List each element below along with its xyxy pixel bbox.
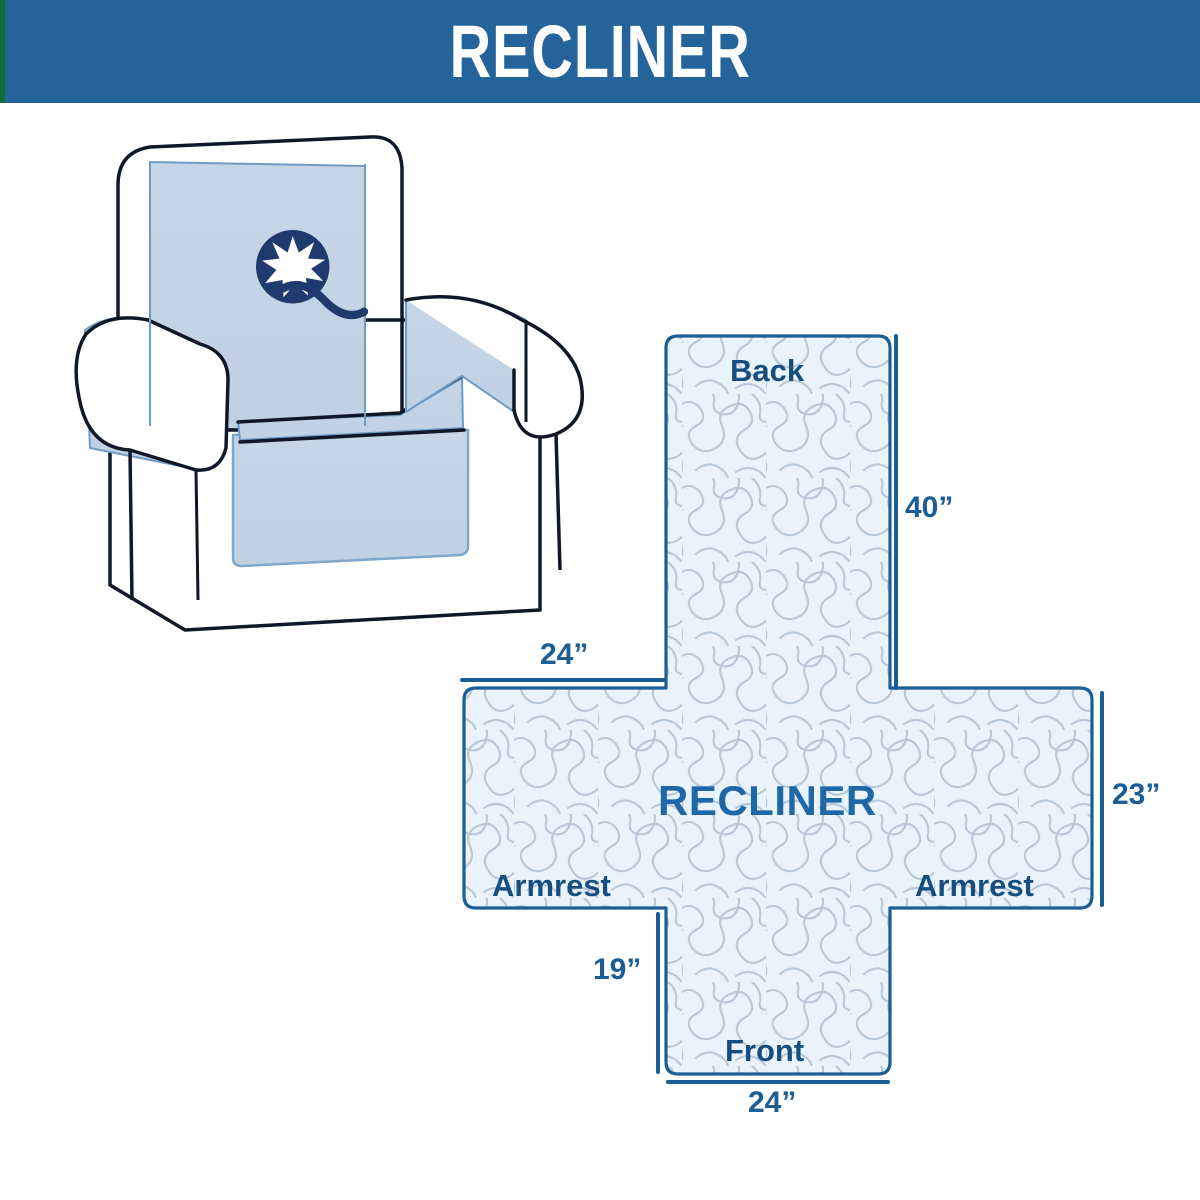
page-title: RECLINER bbox=[449, 15, 750, 89]
left-arm-crease bbox=[196, 470, 198, 600]
diagram-center-label: RECLINER bbox=[658, 780, 877, 822]
dimension-label-body-height: 23” bbox=[1112, 780, 1160, 810]
header-accent-stripe bbox=[0, 0, 5, 103]
dimension-label-front-width: 24” bbox=[748, 1088, 796, 1118]
dimension-label-front-height: 19” bbox=[593, 955, 641, 985]
cover-layout-diagram: Back Armrest Armrest Front RECLINER 40” … bbox=[430, 310, 1200, 1140]
dimension-label-back-height: 40” bbox=[905, 493, 953, 523]
left-arm-front-line bbox=[130, 450, 132, 600]
panel-label-armrest-left: Armrest bbox=[492, 870, 611, 901]
panel-label-armrest-right: Armrest bbox=[915, 870, 1034, 901]
panel-label-front: Front bbox=[725, 1035, 804, 1066]
cover-cross-shape bbox=[464, 336, 1092, 1074]
panel-label-back: Back bbox=[730, 355, 804, 386]
header-banner: RECLINER bbox=[0, 0, 1200, 103]
dimension-label-back-width-top: 24” bbox=[540, 640, 588, 670]
product-dimension-infographic: RECLINER bbox=[0, 0, 1200, 1200]
